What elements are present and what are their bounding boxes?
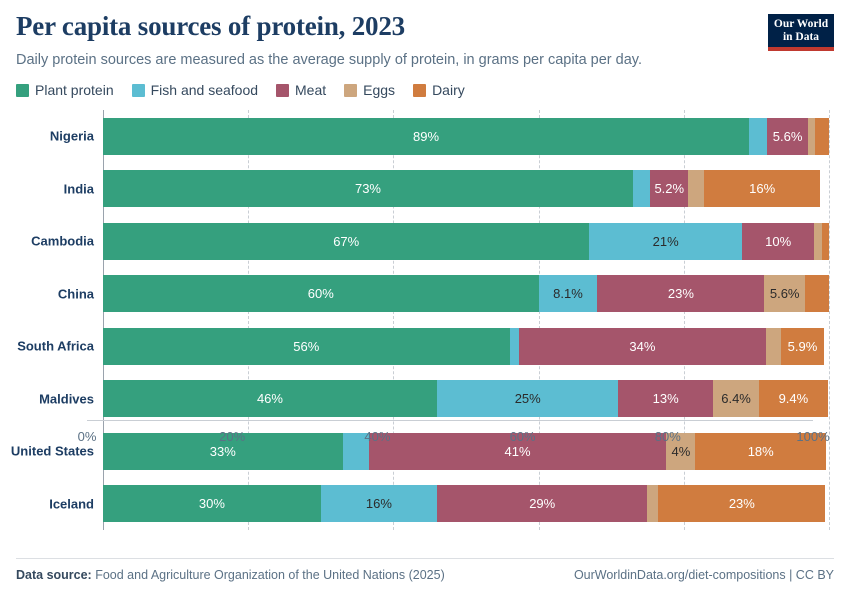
bar-segment-label: 67% [333,235,359,248]
bar-segment[interactable]: 13% [618,380,712,417]
plot-inner: Nigeria89%5.6%India73%5.2%16%Cambodia67%… [103,110,829,530]
bar-segment-label: 13% [653,392,679,405]
bar-segment[interactable]: 23% [658,485,825,522]
bar-segment[interactable]: 23% [597,275,764,312]
chart-root: Per capita sources of protein, 2023 Dail… [0,0,850,600]
legend-swatch-icon [413,84,426,97]
footer-source-label: Data source: [16,568,92,582]
bar-row[interactable]: South Africa56%34%5.9% [103,328,829,365]
bar-row-label: China [58,286,94,301]
legend-item[interactable]: Plant protein [16,82,114,98]
owid-logo-line2: in Data [771,31,831,44]
bar-segment-label: 25% [515,392,541,405]
bar-segment[interactable]: 16% [704,170,820,207]
legend-item-label: Dairy [432,82,465,98]
bar-segment[interactable]: 67% [103,223,589,260]
bar-segment[interactable] [688,170,704,207]
bar-segment-label: 46% [257,392,283,405]
footer-source-text: Food and Agriculture Organization of the… [95,568,445,582]
bar-segment[interactable]: 25% [437,380,619,417]
bar-segment-label: 89% [413,130,439,143]
bar-segment-label: 10% [765,235,791,248]
bar-segment[interactable]: 60% [103,275,539,312]
bar-segment[interactable]: 8.1% [539,275,598,312]
bar-segment[interactable] [814,223,821,260]
bar-segment[interactable]: 30% [103,485,321,522]
page-title: Per capita sources of protein, 2023 [16,12,834,42]
bar-segment[interactable]: 5.9% [781,328,824,365]
bar-segment[interactable] [822,223,829,260]
x-axis-tick-label: 100% [796,429,829,444]
bar-segment-label: 21% [653,235,679,248]
bar-row[interactable]: Iceland30%16%29%23% [103,485,829,522]
bar-segment-label: 73% [355,182,381,195]
bar-segment[interactable] [749,118,767,155]
legend-item-label: Meat [295,82,326,98]
bar-segment[interactable]: 56% [103,328,510,365]
bar-segment[interactable]: 5.6% [767,118,808,155]
legend-item-label: Eggs [363,82,395,98]
bar-segment[interactable]: 16% [321,485,437,522]
bar-segment-label: 9.4% [779,392,809,405]
bar-segment[interactable] [510,328,519,365]
bar-segment-label: 5.6% [770,287,800,300]
chart-subtitle: Daily protein sources are measured as th… [16,51,834,69]
bar-segment-label: 60% [308,287,334,300]
bar-segment[interactable] [815,118,829,155]
bar-row-label: South Africa [17,339,94,354]
legend-item[interactable]: Dairy [413,82,465,98]
bar-segment-label: 29% [529,497,555,510]
bar-segment-label: 5.6% [773,130,803,143]
footer-source: Data source: Food and Agriculture Organi… [16,568,445,582]
bar-segment-label: 23% [668,287,694,300]
bar-segment[interactable]: 89% [103,118,749,155]
x-axis-tick-label: 0% [78,429,97,444]
bar-row[interactable]: India73%5.2%16% [103,170,829,207]
legend-item[interactable]: Eggs [344,82,395,98]
bar-row-label: Nigeria [50,129,94,144]
x-axis: 0%20%40%60%80%100% [87,420,813,450]
bar-segment[interactable]: 21% [589,223,741,260]
bar-row-label: Maldives [39,391,94,406]
bar-segment[interactable]: 46% [103,380,437,417]
bar-segment[interactable]: 29% [437,485,648,522]
bar-segment[interactable]: 73% [103,170,633,207]
bar-row[interactable]: Maldives46%25%13%6.4%9.4% [103,380,829,417]
bar-segment-label: 56% [293,340,319,353]
x-axis-tick-label: 40% [364,429,390,444]
legend-item-label: Fish and seafood [151,82,258,98]
bar-segment-label: 30% [199,497,225,510]
legend-item-label: Plant protein [35,82,114,98]
x-axis-line [87,420,813,421]
legend-swatch-icon [344,84,357,97]
bar-rows: Nigeria89%5.6%India73%5.2%16%Cambodia67%… [103,110,829,530]
bar-segment[interactable]: 10% [742,223,815,260]
chart-header: Per capita sources of protein, 2023 Dail… [16,12,834,69]
bar-segment-label: 16% [749,182,775,195]
bar-segment[interactable] [647,485,658,522]
legend-swatch-icon [16,84,29,97]
x-axis-tick-label: 60% [510,429,536,444]
bar-row-label: United States [11,444,94,459]
bar-row[interactable]: China60%8.1%23%5.6% [103,275,829,312]
bar-segment[interactable] [766,328,781,365]
x-axis-tick-label: 20% [219,429,245,444]
footer-attribution[interactable]: OurWorldinData.org/diet-compositions | C… [574,568,834,582]
legend-swatch-icon [276,84,289,97]
bar-segment-label: 34% [629,340,655,353]
bar-segment-label: 16% [366,497,392,510]
bar-row[interactable]: Cambodia67%21%10% [103,223,829,260]
legend-item[interactable]: Meat [276,82,326,98]
bar-segment[interactable]: 5.2% [650,170,688,207]
bar-segment-label: 6.4% [721,392,751,405]
bar-segment[interactable] [633,170,650,207]
chart-legend: Plant proteinFish and seafoodMeatEggsDai… [16,82,465,98]
x-axis-tick-label: 80% [655,429,681,444]
bar-segment[interactable] [808,118,815,155]
bar-row-label: India [64,181,94,196]
bar-segment-label: 23% [729,497,755,510]
bar-row-label: Iceland [49,496,94,511]
bar-segment[interactable]: 5.6% [764,275,805,312]
chart-footer: Data source: Food and Agriculture Organi… [16,558,834,582]
bar-segment-label: 5.2% [654,182,684,195]
bar-segment[interactable]: 6.4% [713,380,759,417]
bar-row-label: Cambodia [31,234,94,249]
legend-item[interactable]: Fish and seafood [132,82,258,98]
gridline [829,110,831,530]
owid-logo[interactable]: Our World in Data [768,14,834,51]
owid-logo-line1: Our World [771,18,831,31]
bar-segment[interactable]: 34% [519,328,766,365]
bar-segment-label: 5.9% [788,340,818,353]
legend-swatch-icon [132,84,145,97]
plot-area: Nigeria89%5.6%India73%5.2%16%Cambodia67%… [16,110,834,530]
bar-row[interactable]: Nigeria89%5.6% [103,118,829,155]
bar-segment[interactable]: 9.4% [759,380,827,417]
bar-segment[interactable] [805,275,829,312]
bar-segment-label: 8.1% [553,287,583,300]
